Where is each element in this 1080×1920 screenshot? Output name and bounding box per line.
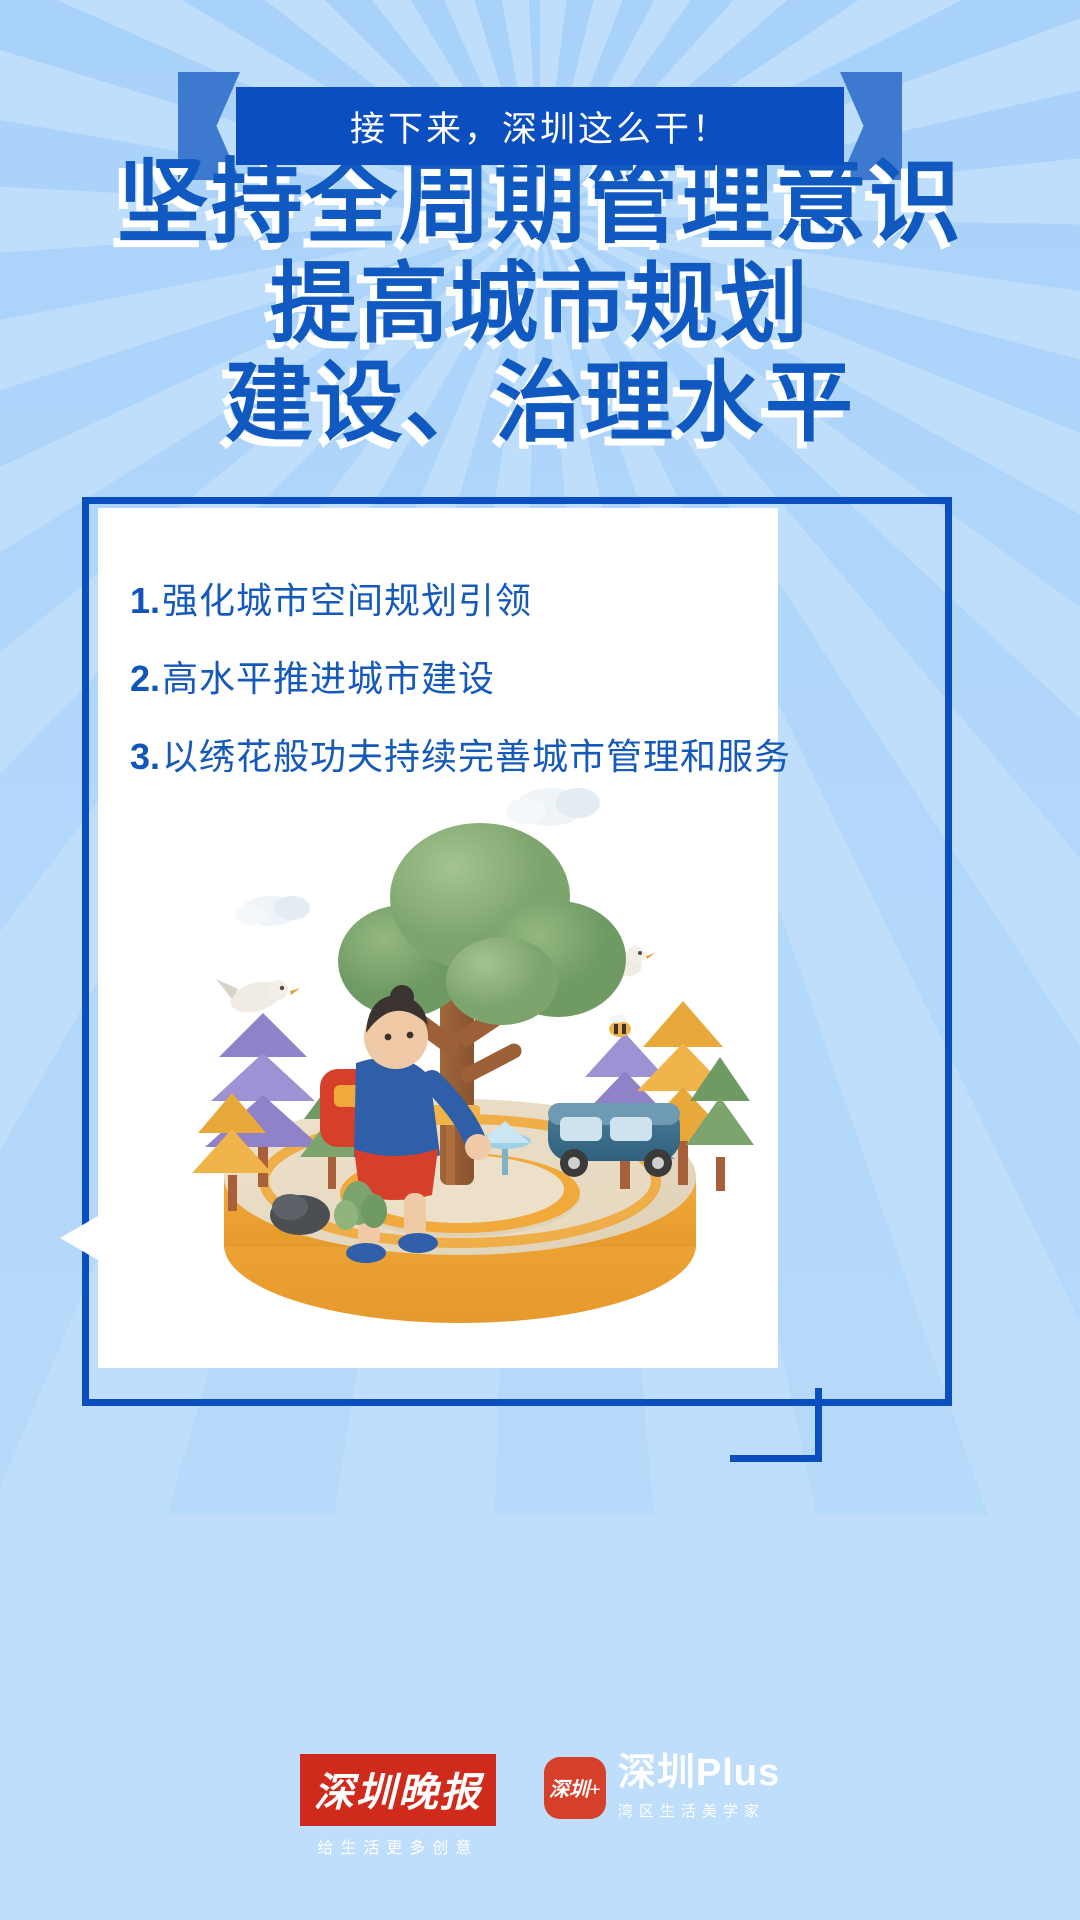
cloud-icon (506, 788, 600, 826)
plus-text-block: 深圳Plus 湾区生活美学家 (618, 1754, 780, 1821)
corner-bracket-horizontal (730, 1455, 822, 1462)
cloud-icon (236, 896, 310, 926)
headline-line-2: 提高城市规划 (0, 255, 1080, 354)
list-item: 1. 强化城市空间规划引领 (130, 572, 920, 624)
headline-line-3: 建设、治理水平 (0, 354, 1080, 453)
shenzhen-plus-app-icon: 深圳+ (544, 1757, 606, 1819)
bee-icon (609, 1015, 631, 1037)
list-item: 2. 高水平推进城市建设 (130, 650, 920, 702)
shenzhen-plus-logo: 深圳+ 深圳Plus 湾区生活美学家 (544, 1754, 780, 1821)
corner-bracket-icon (730, 1388, 822, 1462)
list-item-number: 1. (130, 580, 160, 622)
wanbao-wordmark: 深圳晚报 (300, 1754, 496, 1826)
shenzhen-evening-news-logo: 深圳晚报 给生活更多创意 (300, 1754, 496, 1858)
park-scene-illustration (150, 745, 770, 1365)
list-item-label: 强化城市空间规划引领 (162, 572, 532, 624)
banner-plate: 接下来，深圳这么干！ (236, 87, 844, 165)
list-item-number: 2. (130, 658, 160, 700)
bird-icon (216, 976, 300, 1017)
plus-icon-label: 深圳+ (549, 1773, 600, 1802)
triangle-marker-icon (60, 1202, 122, 1274)
plus-tagline: 湾区生活美学家 (618, 1800, 765, 1821)
footer-logos: 深圳晚报 给生活更多创意 深圳+ 深圳Plus 湾区生活美学家 (0, 1754, 1080, 1858)
plus-logo-row: 深圳+ 深圳Plus 湾区生活美学家 (544, 1754, 780, 1821)
plus-name: 深圳Plus (618, 1754, 780, 1792)
page-title: 坚持全周期管理意识 提高城市规划 建设、治理水平 (0, 152, 1080, 452)
list-item-label: 高水平推进城市建设 (162, 650, 495, 702)
corner-bracket-vertical (815, 1388, 822, 1462)
wanbao-name: 深圳晚报 (314, 1770, 482, 1815)
banner-text: 接下来，深圳这么干！ (350, 101, 730, 152)
headline-line-1: 坚持全周期管理意识 (0, 152, 1080, 255)
wanbao-tagline: 给生活更多创意 (317, 1834, 478, 1858)
